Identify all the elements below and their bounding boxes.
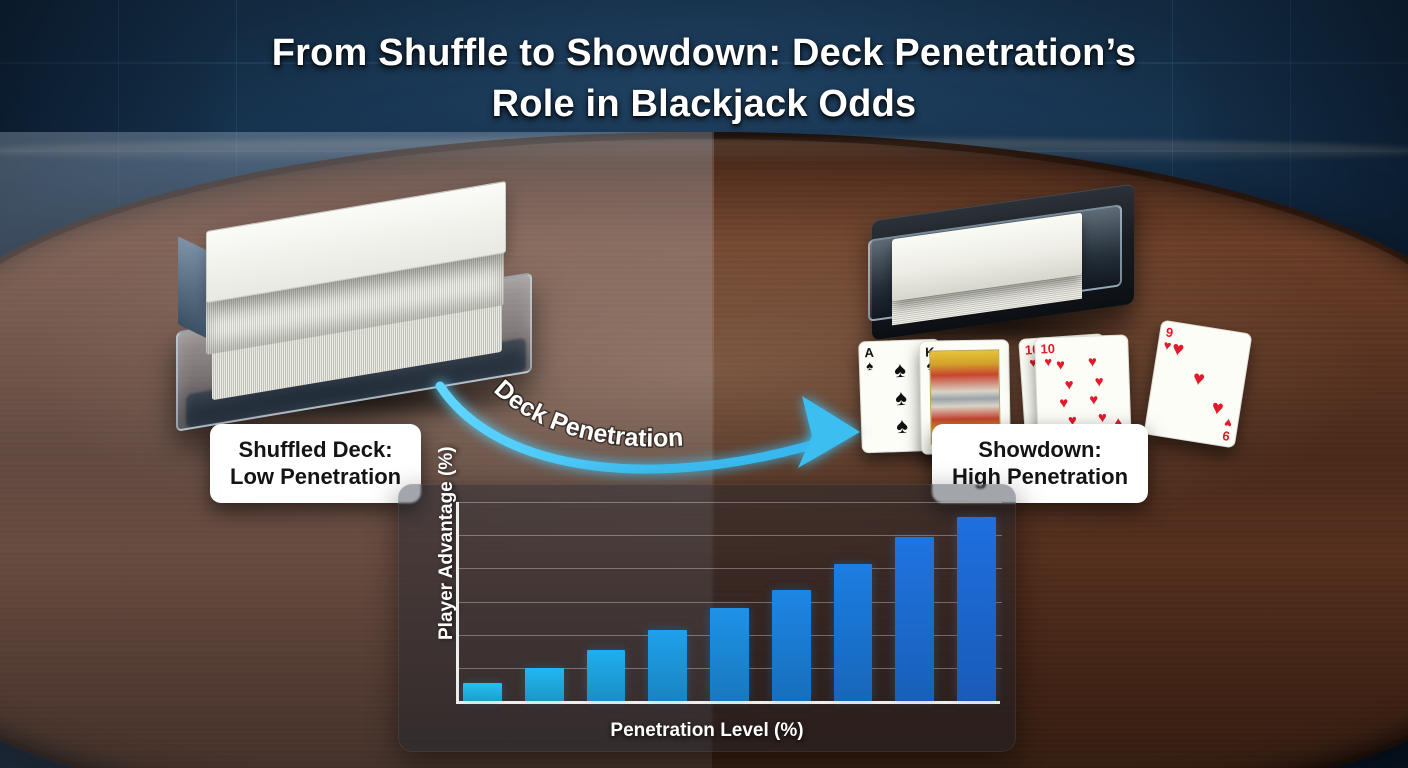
chart-bar [957,517,996,701]
card-rank-corner: 10♥ [1040,342,1055,369]
chart-bars [463,502,996,701]
page-title-line-1: From Shuffle to Showdown: Deck Penetrati… [0,28,1408,79]
heart-pip: ♥ [1064,377,1073,392]
chart-y-axis-label: Player Advantage (%) [436,470,458,640]
chart-bar [587,650,626,701]
heart-pip: ♥ [1191,368,1206,390]
chart-bar [463,683,502,701]
chart-bar [525,668,564,701]
dealing-shoe [862,196,1142,344]
heart-pip: ♥ [1089,392,1098,407]
heart-pip: ♥ [1088,355,1097,370]
callout-shuffled-deck: Shuffled Deck: Low Penetration [210,424,421,503]
heart-pip: ♥ [1171,339,1186,361]
player-advantage-chart: Player Advantage (%) Penetration Level (… [398,484,1016,752]
chart-bar [648,630,687,701]
arrow-label-text: Deck Penetration [489,375,684,453]
chart-bar [895,537,934,701]
heart-pip: ♥ [1056,358,1065,373]
chart-x-axis-label: Penetration Level (%) [398,720,1016,742]
page-title: From Shuffle to Showdown: Deck Penetrati… [0,28,1408,129]
chart-plot-area [456,502,1000,704]
card-rank-corner-bottom: 9♥ [1222,415,1234,442]
callout-left-line-2: Low Penetration [230,463,401,490]
heart-pip: ♥ [1059,396,1068,411]
callout-right-line-1: Showdown: [952,436,1128,463]
chart-bar [710,608,749,701]
card-nine-hearts: 9♥ 9♥ ♥ ♥ ♥ [1143,320,1252,449]
arrow-label: Deck Penetration [430,368,900,498]
heart-pip: ♥ [1094,374,1103,389]
callout-left-line-1: Shuffled Deck: [230,436,401,463]
heart-pip: ♥ [1210,398,1225,420]
chart-bar [772,590,811,701]
chart-bar [834,564,873,701]
page-title-line-2: Role in Blackjack Odds [0,79,1408,130]
infographic-canvas: From Shuffle to Showdown: Deck Penetrati… [0,0,1408,768]
